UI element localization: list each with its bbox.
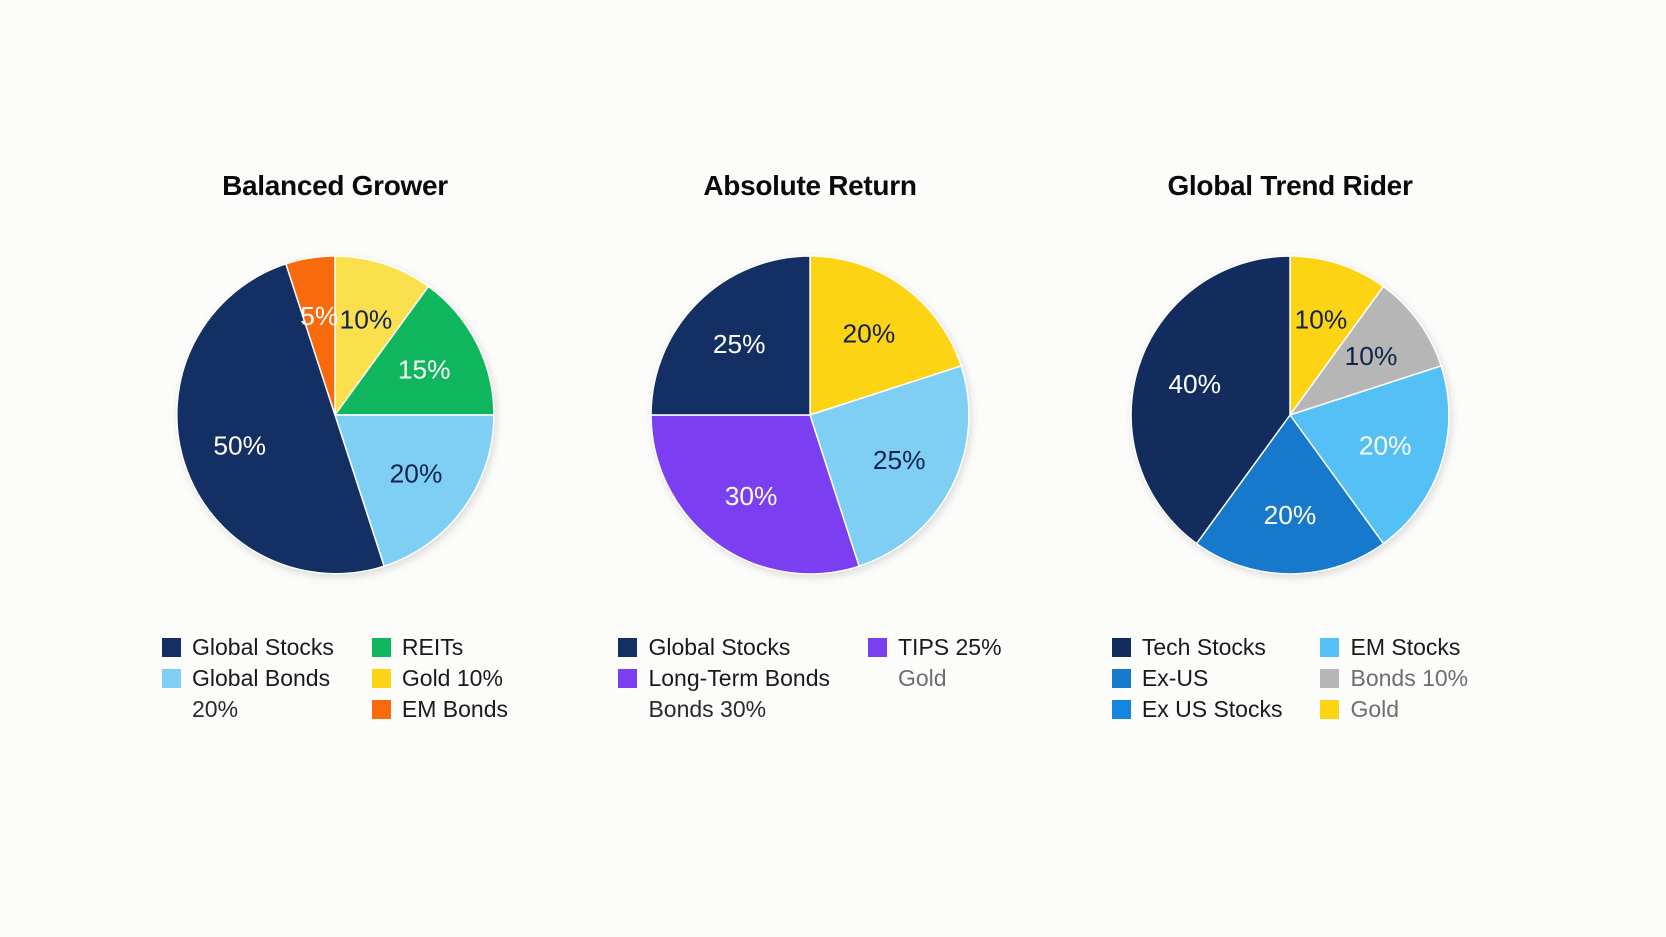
legend-item[interactable]: Gold: [1320, 694, 1468, 725]
pie-slice-value-label: 20%: [843, 319, 896, 349]
legend-swatch-icon: [868, 638, 887, 657]
chart-title-absolute-return: Absolute Return: [703, 170, 916, 202]
legend-swatch-icon: [372, 638, 391, 657]
legend-label: Gold 10%: [402, 663, 503, 694]
pie-slice-value-label: 25%: [713, 329, 766, 359]
legend-swatch-icon: [618, 638, 637, 657]
chart-panel-global-trend-rider: Global Trend Rider 10%10%20%20%40% Tech …: [1045, 170, 1535, 725]
legend-item[interactable]: EM Stocks: [1320, 632, 1468, 663]
legend-label: EM Stocks: [1350, 632, 1460, 663]
legend-swatch-icon: [1320, 700, 1339, 719]
legend-swatch-icon: [1320, 638, 1339, 657]
legend-label: Ex-US: [1142, 663, 1208, 694]
legend-label: Ex US Stocks: [1142, 694, 1283, 725]
legend-item[interactable]: Global Stocks: [618, 632, 830, 663]
pie-chart-global-trend-rider: 10%10%20%20%40%: [1095, 220, 1485, 610]
legend-column-right-2: EM Stocks Bonds 10% Gold: [1320, 632, 1468, 725]
pie-slice-value-label: 50%: [213, 431, 266, 461]
legend-swatch-icon: [1112, 638, 1131, 657]
legend-item[interactable]: Gold: [868, 663, 1002, 694]
legend-label: REITs: [402, 632, 463, 663]
legend-label: Gold: [898, 663, 947, 694]
pie-svg-balanced-grower: 10%15%20%50%5%: [140, 220, 530, 610]
legend-swatch-icon: [1112, 669, 1131, 688]
legend-label: Global Bonds: [192, 663, 330, 694]
chart-panel-balanced-grower: Balanced Grower 10%15%20%50%5% Global St…: [90, 170, 580, 725]
legend-item[interactable]: Long-Term Bonds: [618, 663, 830, 694]
legend-item[interactable]: EM Bonds: [372, 694, 508, 725]
legend-item[interactable]: Tech Stocks: [1112, 632, 1283, 663]
pie-slices-1: [651, 256, 969, 574]
legend-label: Global Stocks: [648, 632, 790, 663]
legend-column-right-0: REITs Gold 10% EM Bonds: [372, 632, 508, 725]
legend-swatch-icon: [618, 669, 637, 688]
legend-swatch-icon: [162, 638, 181, 657]
legend-item[interactable]: TIPS 25%: [868, 632, 1002, 663]
legend-label: EM Bonds: [402, 694, 508, 725]
legend-label: Long-Term Bonds: [648, 663, 830, 694]
legend-swatch-icon: [372, 700, 391, 719]
legend-label: TIPS 25%: [898, 632, 1002, 663]
pie-chart-absolute-return: 20%25%30%25%: [615, 220, 1005, 610]
legend-label: Bonds 10%: [1350, 663, 1468, 694]
legend-item[interactable]: Global Bonds: [162, 663, 334, 694]
legend-column-left-1: Global Stocks Long-Term Bonds Bonds 30%: [618, 632, 830, 725]
pie-chart-panels: Balanced Grower 10%15%20%50%5% Global St…: [0, 170, 1666, 725]
pie-chart-balanced-grower: 10%15%20%50%5%: [140, 220, 530, 610]
legend-item[interactable]: REITs: [372, 632, 508, 663]
legend-column-right-1: TIPS 25% Gold: [868, 632, 1002, 725]
pie-slice-value-label: 20%: [1264, 500, 1317, 530]
legend-item[interactable]: Ex US Stocks: [1112, 694, 1283, 725]
pie-slice-value-label: 15%: [398, 354, 451, 384]
legend-swatch-icon: [1320, 669, 1339, 688]
legend-label: Global Stocks: [192, 632, 334, 663]
pie-slice-value-label: 10%: [1295, 305, 1348, 335]
pie-slice-value-label: 40%: [1168, 369, 1221, 399]
legend-absolute-return: Global Stocks Long-Term Bonds Bonds 30% …: [618, 632, 1001, 725]
legend-continuation: 20%: [162, 694, 334, 725]
legend-swatch-icon: [1112, 700, 1131, 719]
legend-swatch-icon: [868, 669, 887, 688]
legend-item[interactable]: Global Stocks: [162, 632, 334, 663]
pie-slice-value-label: 5%: [300, 301, 338, 331]
legend-column-left-0: Global Stocks Global Bonds 20%: [162, 632, 334, 725]
legend-column-left-2: Tech Stocks Ex-US Ex US Stocks: [1112, 632, 1283, 725]
legend-continuation: Bonds 30%: [618, 694, 830, 725]
legend-label: Gold: [1350, 694, 1399, 725]
pie-slice-value-label: 30%: [725, 481, 778, 511]
legend-balanced-grower: Global Stocks Global Bonds 20% REITs: [162, 632, 508, 725]
chart-title-global-trend-rider: Global Trend Rider: [1167, 170, 1412, 202]
pie-slice-value-label: 10%: [340, 305, 393, 335]
pie-svg-global-trend-rider: 10%10%20%20%40%: [1095, 220, 1485, 610]
pie-svg-absolute-return: 20%25%30%25%: [615, 220, 1005, 610]
legend-item[interactable]: Bonds 10%: [1320, 663, 1468, 694]
chart-canvas: Balanced Grower 10%15%20%50%5% Global St…: [0, 0, 1666, 937]
pie-slice-value-label: 10%: [1345, 341, 1398, 371]
pie-slice-value-label: 25%: [873, 445, 926, 475]
pie-slice-value-label: 20%: [390, 459, 443, 489]
legend-global-trend-rider: Tech Stocks Ex-US Ex US Stocks EM Stocks: [1112, 632, 1468, 725]
legend-item[interactable]: Gold 10%: [372, 663, 508, 694]
chart-panel-absolute-return: Absolute Return 20%25%30%25% Global Stoc…: [565, 170, 1055, 725]
legend-item[interactable]: Ex-US: [1112, 663, 1283, 694]
legend-swatch-icon: [162, 669, 181, 688]
legend-label: Tech Stocks: [1142, 632, 1266, 663]
legend-swatch-icon: [372, 669, 391, 688]
pie-slice-value-label: 20%: [1359, 431, 1412, 461]
chart-title-balanced-grower: Balanced Grower: [222, 170, 448, 202]
